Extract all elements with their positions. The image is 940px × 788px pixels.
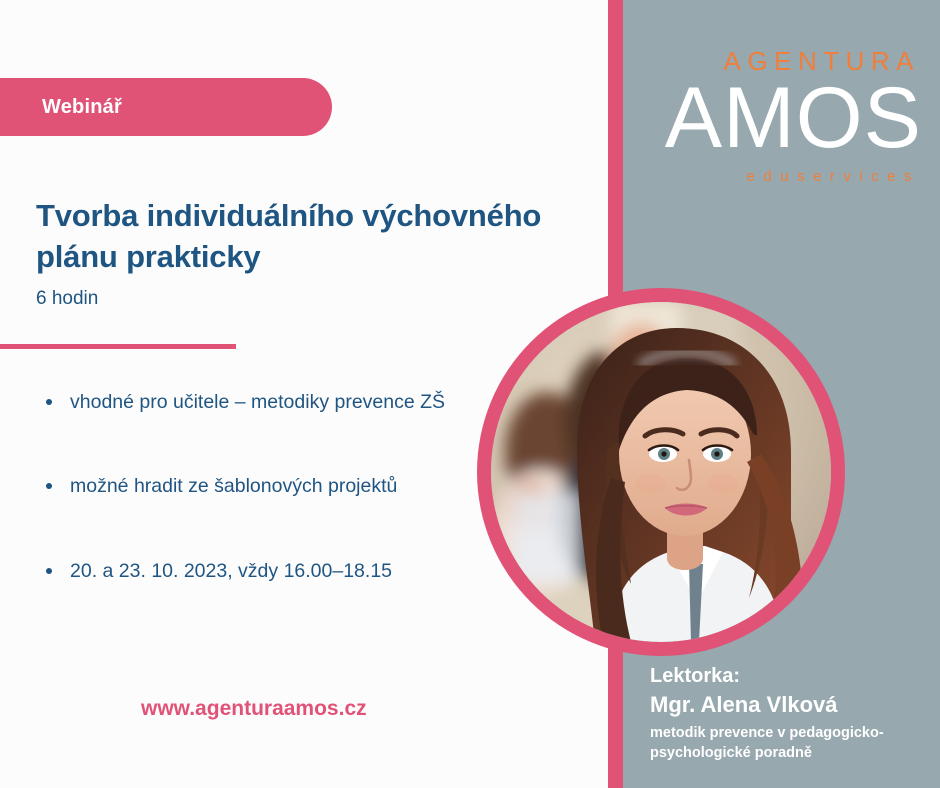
logo-eduservices-text: eduservices [623, 169, 922, 184]
website-url[interactable]: www.agenturaamos.cz [141, 697, 367, 721]
webinar-poster: Webinář Tvorba individuálního výchovného… [0, 0, 940, 788]
pink-divider [0, 344, 236, 349]
list-item: 20. a 23. 10. 2023, vždy 16.00–18.15 [42, 557, 502, 585]
agentura-amos-logo: AGENTURA AMOS eduservices [623, 48, 940, 184]
lecturer-info: Lektorka: Mgr. Alena Vlková metodik prev… [650, 663, 930, 764]
logo-amos-text: AMOS [623, 76, 922, 160]
webinar-badge-label: Webinář [42, 96, 122, 119]
lecturer-role: metodik prevence v pedagogicko- psycholo… [650, 724, 930, 763]
lecturer-label: Lektorka: [650, 663, 930, 690]
list-item: možné hradit ze šablonových projektů [42, 472, 502, 500]
webinar-badge: Webinář [0, 78, 332, 136]
lecturer-photo [491, 302, 831, 642]
lecturer-role-line2: psychologické poradně [650, 745, 812, 761]
list-item: vhodné pro učitele – metodiky prevence Z… [42, 388, 502, 416]
lecturer-role-line1: metodik prevence v pedagogicko- [650, 725, 884, 741]
portrait-photo-illustration [491, 302, 831, 642]
page-title: Tvorba individuálního výchovného plánu p… [36, 196, 556, 278]
lecturer-photo-circle [477, 288, 845, 656]
course-duration: 6 hodin [36, 288, 98, 310]
course-details-list: vhodné pro učitele – metodiky prevence Z… [42, 388, 502, 585]
lecturer-name: Mgr. Alena Vlková [650, 691, 930, 720]
